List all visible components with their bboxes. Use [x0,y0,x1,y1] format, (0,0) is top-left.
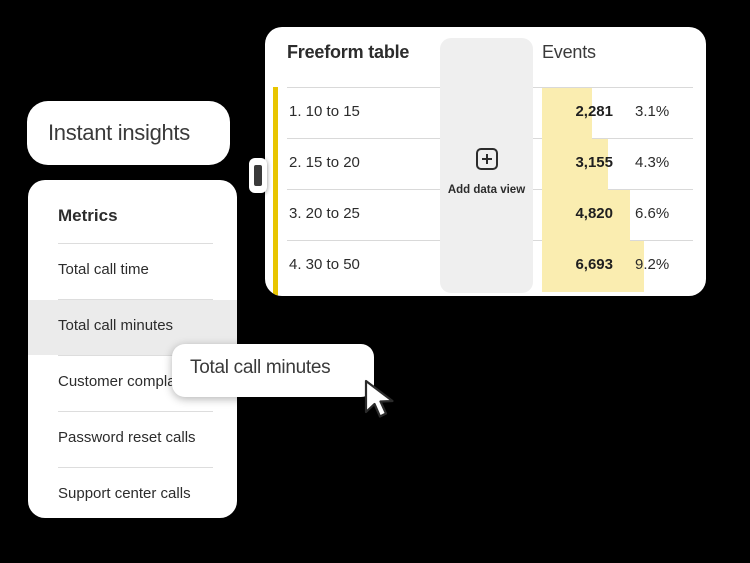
tooltip-label: Total call minutes [190,357,330,379]
table-row-value: 3,155 [553,154,613,171]
table-row-value: 2,281 [553,103,613,120]
screenshot-stage: Freeform table Events 1. 10 to 15 2,281 … [0,0,750,563]
table-row-label: 1. 10 to 15 [289,103,360,120]
tooltip: Total call minutes [172,344,374,397]
plus-icon[interactable] [476,148,498,170]
metrics-item-total-call-time[interactable]: Total call time [28,244,237,299]
metrics-item-label: Total call minutes [58,317,173,334]
metrics-item-label: Total call time [58,261,149,278]
drag-handle-slot [254,165,262,186]
mouse-pointer-icon [364,379,398,419]
add-data-view-panel[interactable]: Add data view [440,38,533,293]
metrics-item-label: Support center calls [58,485,191,502]
table-column-header-events: Events [542,42,596,63]
instant-insights-label: Instant insights [48,120,190,146]
drag-handle-icon[interactable] [249,158,267,193]
table-title: Freeform table [287,42,409,63]
metrics-item-password-reset-calls[interactable]: Password reset calls [28,412,237,467]
table-row-percent: 6.6% [635,205,669,222]
table-row-value: 6,693 [553,256,613,273]
metrics-panel-title: Metrics [58,206,118,226]
table-row-value: 4,820 [553,205,613,222]
table-row-label: 4. 30 to 50 [289,256,360,273]
table-row-label: 2. 15 to 20 [289,154,360,171]
table-row-percent: 9.2% [635,256,669,273]
table-row-label: 3. 20 to 25 [289,205,360,222]
metrics-item-label: Password reset calls [58,429,196,446]
table-row-percent: 4.3% [635,154,669,171]
instant-insights-pill[interactable]: Instant insights [27,101,230,165]
table-row-percent: 3.1% [635,103,669,120]
add-data-view-label: Add data view [440,184,533,196]
metrics-item-support-center-calls[interactable]: Support center calls [28,468,237,518]
